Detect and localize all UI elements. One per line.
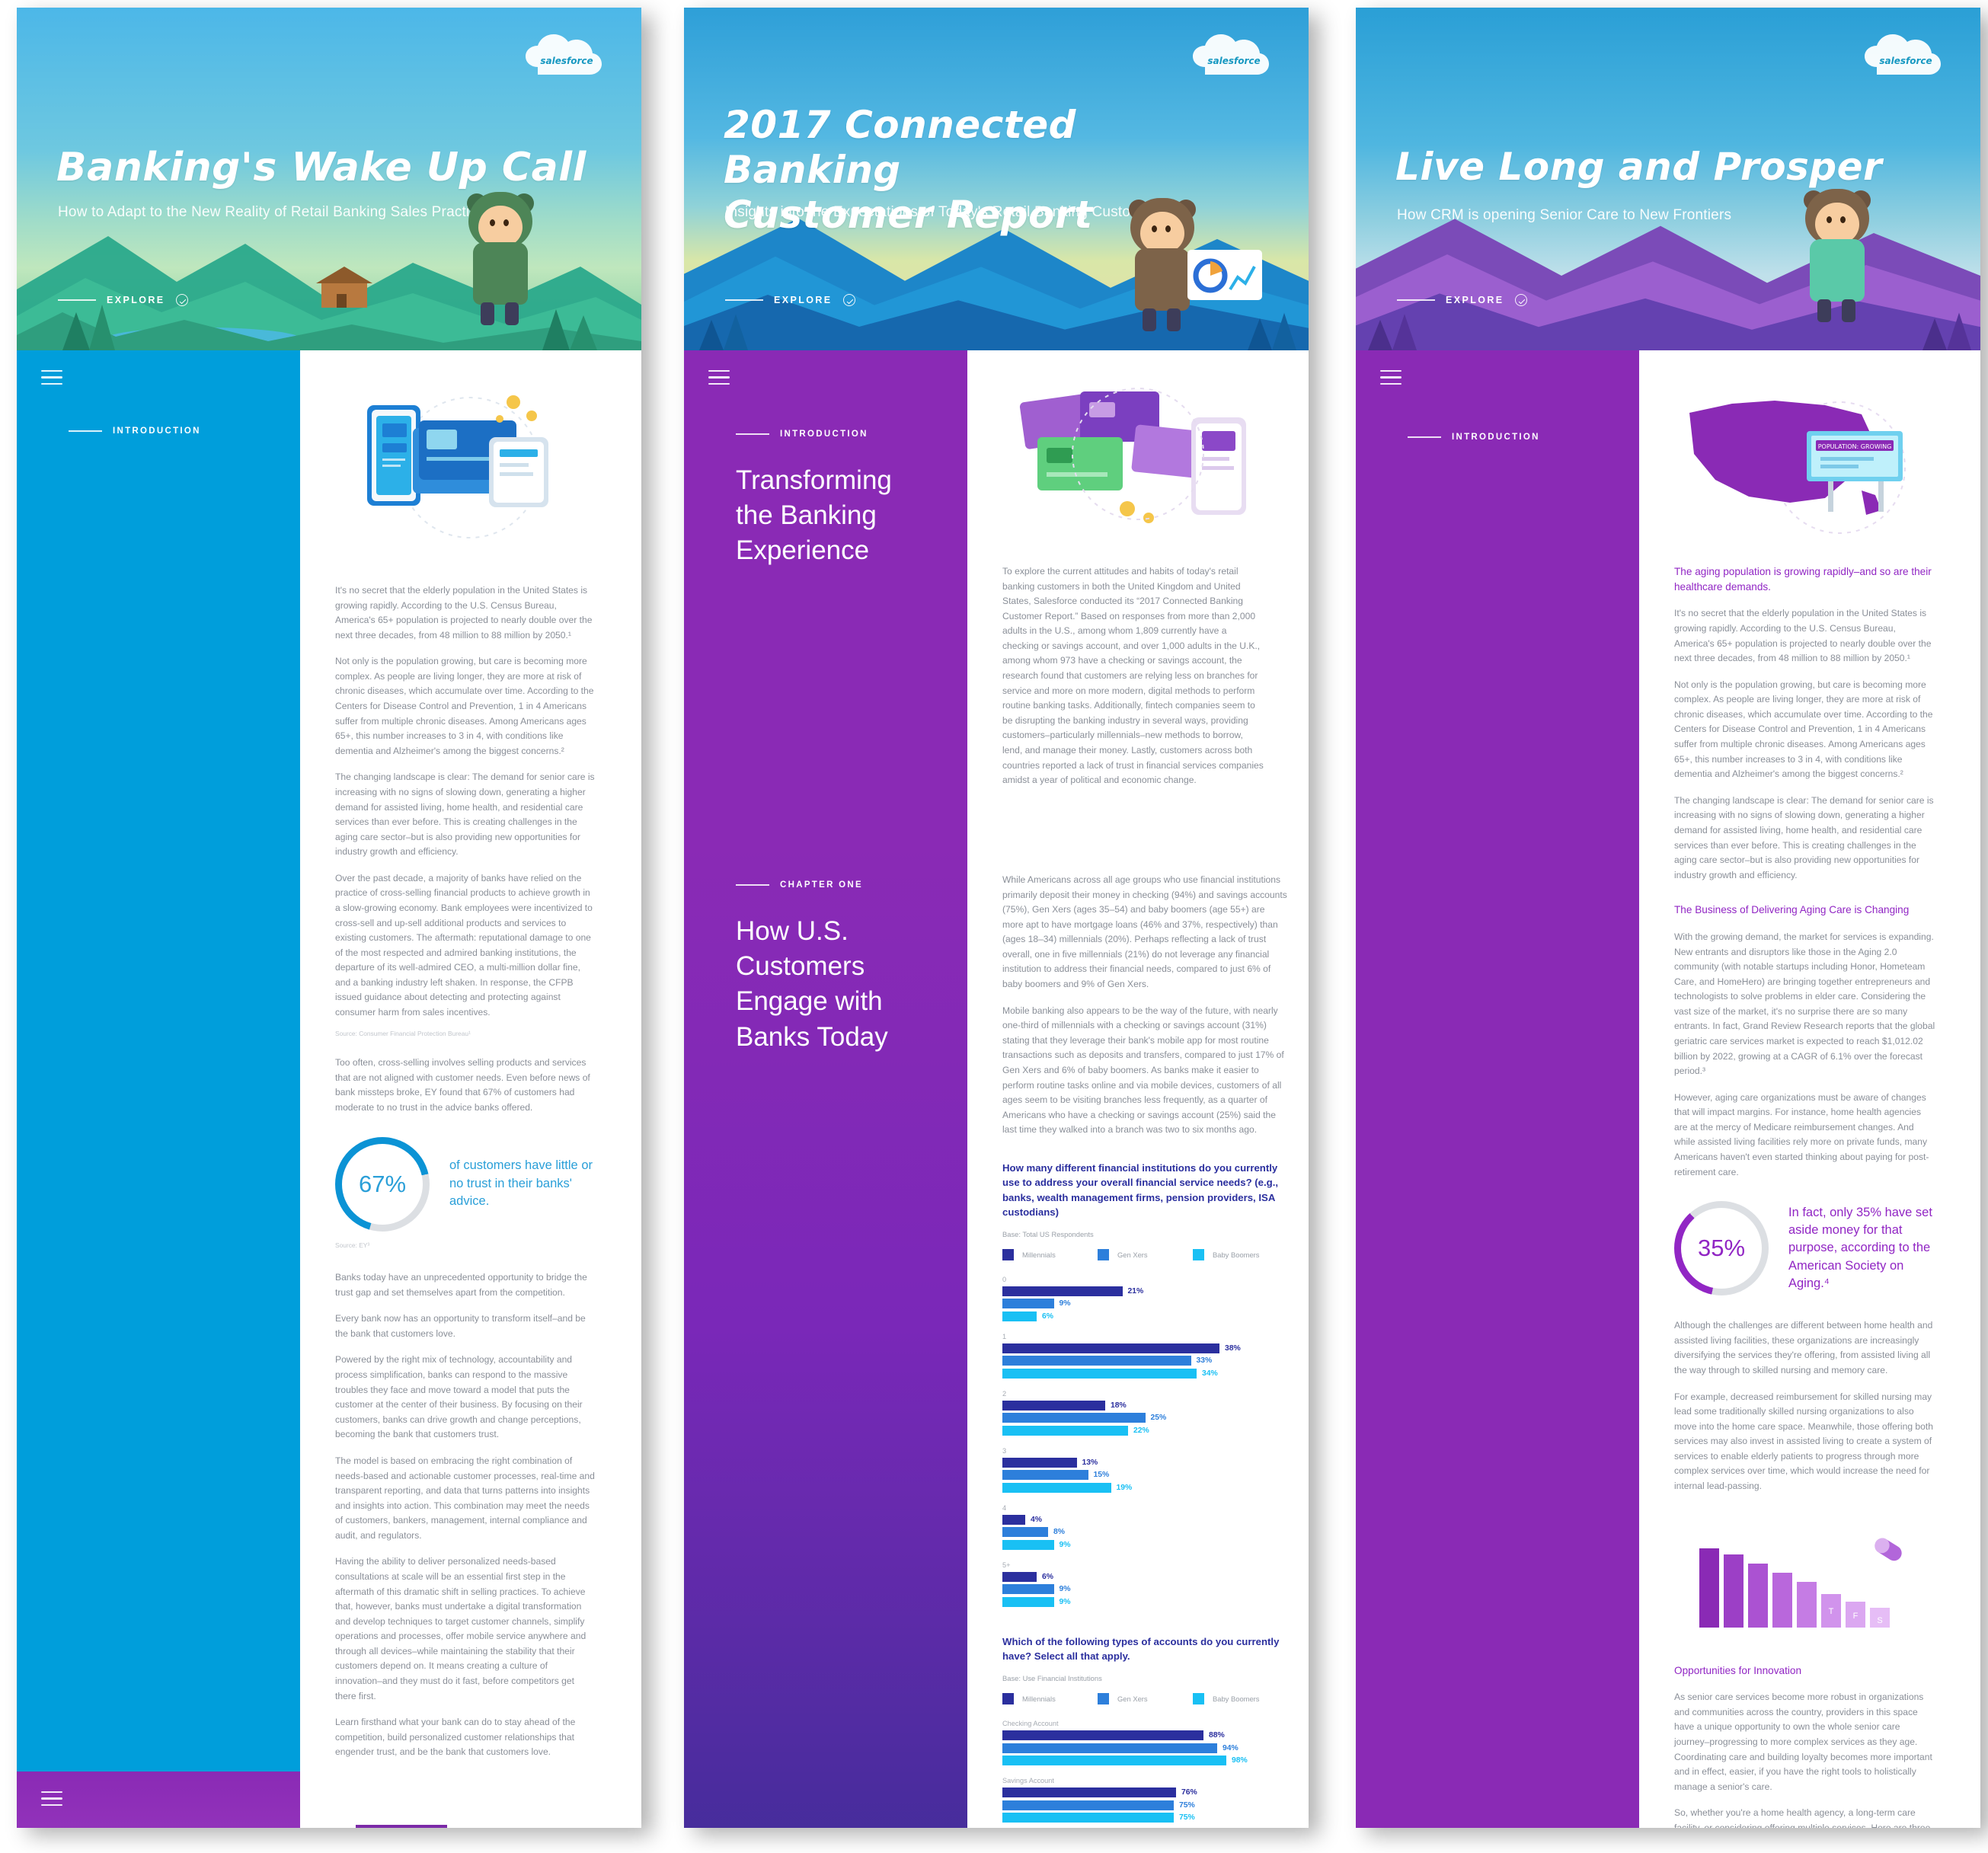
chart-legend: Millennials Gen Xers Baby Boomers — [1002, 1249, 1288, 1260]
paragraph: Although the challenges are different be… — [1674, 1318, 1936, 1378]
paragraph: However, aging care organizations must b… — [1674, 1091, 1936, 1180]
explore-button[interactable]: EXPLORE — [1397, 294, 1527, 306]
chart-bar-row: 6% — [1002, 1311, 1288, 1321]
chapter-one-block-panel1: CHAPTER ONE Tapping Digital Innovation t… — [17, 1772, 641, 1828]
three-panel-ebook-layout: salesforce Banking's Wake Up Call How to… — [0, 0, 1988, 1853]
chart-bar — [1002, 1756, 1226, 1765]
bar-label-f: F — [1853, 1612, 1859, 1621]
paragraph: To explore the current attitudes and hab… — [1002, 564, 1264, 788]
chart-group: Checking Account88%94%98% — [1002, 1720, 1288, 1765]
legend-label: Gen Xers — [1117, 1251, 1148, 1259]
legend-item: Gen Xers — [1098, 1249, 1193, 1260]
kicker-rule — [736, 884, 769, 886]
chart-bar-value: 22% — [1133, 1426, 1149, 1435]
kicker-rule — [69, 430, 102, 432]
chart-bar-row: 75% — [1002, 1800, 1288, 1810]
stat-value: 67% — [335, 1137, 430, 1232]
bank-building-mobile-illustration — [335, 1811, 597, 1828]
legend-swatch-millennials — [1002, 1249, 1014, 1260]
chart-category-label: Savings Account — [1002, 1777, 1288, 1784]
legend-item: Baby Boomers — [1193, 1249, 1288, 1260]
intro-section-panel3: INTRODUCTION POPULATION: GROWING — [1356, 350, 1980, 1828]
chart-bar — [1002, 1743, 1217, 1753]
intro-content-panel3: POPULATION: GROWING The aging population… — [1639, 350, 1980, 1828]
chart-bar-row: 22% — [1002, 1426, 1288, 1436]
chapter-one-section-panel2: CHAPTER ONE How U.S. Customers Engage wi… — [684, 838, 1309, 1828]
chapter-content-panel1: Tapping into the digital innovation that… — [300, 1772, 641, 1828]
ebook-panel-banking-wake-up-call: salesforce Banking's Wake Up Call How to… — [17, 8, 641, 1828]
astro-mascot-bear — [455, 192, 546, 325]
salesforce-cloud-logo: salesforce — [1860, 30, 1951, 82]
paragraph: So, whether you're a home health agency,… — [1674, 1806, 1936, 1828]
us-map-billboard-illustration: POPULATION: GROWING — [1674, 384, 1936, 548]
chart-bar-value: 4% — [1031, 1516, 1042, 1524]
chart-bar — [1002, 1572, 1037, 1582]
chart-bar — [1002, 1286, 1123, 1296]
chart-bar — [1002, 1470, 1088, 1480]
legend-swatch-genxers — [1098, 1249, 1109, 1260]
chart-bar — [1002, 1483, 1111, 1493]
left-rail-chapter: CHAPTER ONE Tapping Digital Innovation t… — [17, 1772, 300, 1828]
chart-group: 44%8%9% — [1002, 1504, 1288, 1550]
cards-phone-illustration — [1002, 384, 1264, 548]
stat-callout-trust: 67% of customers have little or no trust… — [335, 1137, 597, 1232]
pill-capsule-icon — [1872, 1535, 1905, 1563]
left-rail-deep-gradient: CHAPTER ONE How U.S. Customers Engage wi… — [684, 838, 967, 1828]
chart-bar-row: 19% — [1002, 1483, 1288, 1493]
chart-group: 313%15%19% — [1002, 1447, 1288, 1493]
paragraph: Learn firsthand what your bank can do to… — [335, 1715, 597, 1760]
paragraph: Over the past decade, a majority of bank… — [335, 871, 597, 1021]
legend-label: Millennials — [1022, 1695, 1056, 1703]
chart-bar-value: 13% — [1082, 1458, 1098, 1467]
chart-bar-row: 18% — [1002, 1401, 1288, 1411]
chart-bar — [1002, 1311, 1037, 1321]
explore-rule — [58, 299, 96, 301]
chart-bar-value: 38% — [1225, 1344, 1241, 1353]
explore-label: EXPLORE — [1446, 295, 1504, 305]
chart-bar — [1002, 1413, 1146, 1423]
chevron-down-icon — [176, 294, 188, 306]
chart-bar-row: 38% — [1002, 1343, 1288, 1353]
legend-swatch-genxers — [1098, 1693, 1109, 1704]
paragraph: Powered by the right mix of technology, … — [335, 1353, 597, 1442]
paragraph: Not only is the population growing, but … — [335, 654, 597, 759]
chevron-down-icon — [1515, 294, 1527, 306]
chart-bar-value: 9% — [1060, 1585, 1071, 1593]
chart-category-label: Checking Account — [1002, 1720, 1288, 1727]
chart-group: 5+6%9%9% — [1002, 1561, 1288, 1607]
intro-content-panel2: To explore the current attitudes and hab… — [967, 350, 1309, 838]
hero-banner-panel1: salesforce Banking's Wake Up Call How to… — [17, 8, 641, 350]
chart-bar — [1002, 1527, 1048, 1537]
chart-bar-value: 8% — [1053, 1528, 1065, 1536]
paragraph: It's no secret that the elderly populati… — [335, 583, 597, 643]
chart-bar-row: 94% — [1002, 1743, 1288, 1753]
bar-label-t: T — [1829, 1607, 1834, 1616]
menu-icon[interactable] — [41, 370, 62, 385]
chart-bar — [1002, 1540, 1054, 1550]
source-note: Source: Consumer Financial Protection Bu… — [335, 1029, 597, 1040]
chart-bar-value: 15% — [1094, 1471, 1110, 1479]
chart-bar — [1002, 1788, 1176, 1797]
paragraph: For example, decreased reimbursement for… — [1674, 1390, 1936, 1494]
legend-label: Baby Boomers — [1213, 1251, 1260, 1259]
chart-bar-row: 6% — [1002, 1572, 1288, 1582]
chart-group: Savings Account76%75%75% — [1002, 1777, 1288, 1823]
hero-subtitle: How CRM is opening Senior Care to New Fr… — [1397, 207, 1731, 224]
paragraph: The changing landscape is clear: The dem… — [1674, 794, 1936, 883]
chart-bar-value: 9% — [1060, 1598, 1071, 1606]
ebook-panel-connected-banking-report: salesforce 2017 Connected Banking Custom… — [684, 8, 1309, 1828]
chart-bar-row: 25% — [1002, 1413, 1288, 1423]
chart-bar-value: 9% — [1060, 1541, 1071, 1549]
chart-bar — [1002, 1800, 1174, 1810]
chart-group: 138%33%34% — [1002, 1333, 1288, 1379]
left-rail-blue: INTRODUCTION — [17, 350, 300, 1772]
chapter-kicker: CHAPTER ONE — [736, 880, 863, 890]
chart-bar — [1002, 1299, 1054, 1308]
chart-bar-row: 9% — [1002, 1584, 1288, 1594]
hero-title: Live Long and Prosper — [1395, 145, 1929, 189]
chart-group: 021%9%6% — [1002, 1276, 1288, 1321]
usa-map-graphic: POPULATION: GROWING — [1674, 384, 1936, 548]
svg-text:salesforce: salesforce — [1207, 56, 1260, 66]
kicker-label: CHAPTER ONE — [780, 880, 863, 890]
legend-swatch-babyboomers — [1193, 1693, 1204, 1704]
section-heading: The aging population is growing rapidly–… — [1674, 564, 1936, 594]
explore-label: EXPLORE — [774, 295, 833, 305]
billboard-label-text: POPULATION: GROWING — [1818, 443, 1892, 450]
chart-bar-row: 13% — [1002, 1458, 1288, 1468]
hero-subtitle: Insights into the Expectations of Today'… — [725, 204, 1163, 221]
menu-icon[interactable] — [41, 1791, 62, 1807]
chart-group: 218%25%22% — [1002, 1390, 1288, 1436]
astro-mascot-nurse — [1791, 189, 1883, 322]
chart-question: How many different financial institution… — [1002, 1161, 1288, 1220]
explore-label: EXPLORE — [107, 295, 165, 305]
chart-category-label: 3 — [1002, 1447, 1288, 1455]
svg-text:salesforce: salesforce — [540, 56, 593, 66]
chart-bar-value: 18% — [1111, 1401, 1127, 1410]
hero-title-line1: 2017 Connected Banking — [724, 103, 1257, 193]
chart-bar-value: 25% — [1151, 1414, 1167, 1422]
left-rail-purple: INTRODUCTION Transforming the Banking Ex… — [684, 350, 967, 838]
explore-rule — [725, 299, 763, 301]
legend-label: Gen Xers — [1117, 1695, 1148, 1703]
chart-bar-value: 33% — [1197, 1356, 1213, 1365]
chart-bar-value: 75% — [1179, 1813, 1195, 1822]
section-heading: Opportunities for Innovation — [1674, 1663, 1936, 1679]
salesforce-cloud-logo: salesforce — [521, 30, 612, 82]
paragraph: Mobile banking also appears to be the wa… — [1002, 1004, 1288, 1138]
chart-bar-value: 21% — [1128, 1287, 1144, 1296]
salesforce-cloud-logo: salesforce — [1188, 30, 1280, 82]
paragraph: Every bank now has an opportunity to tra… — [335, 1311, 597, 1341]
chart-bar-row: 34% — [1002, 1369, 1288, 1379]
explore-rule — [1397, 299, 1435, 301]
hero-banner-panel3: salesforce Live Long and Prosper How CRM… — [1356, 8, 1980, 350]
left-rail-purple: INTRODUCTION — [1356, 350, 1639, 1828]
menu-icon[interactable] — [1380, 370, 1402, 385]
chart-bar-value: 19% — [1117, 1484, 1133, 1492]
chart-base-label: Base: Total US Respondents — [1002, 1230, 1288, 1238]
chart-bar-value: 75% — [1179, 1801, 1195, 1810]
hero-title: Banking's Wake Up Call — [56, 145, 590, 190]
kicker-label: INTRODUCTION — [780, 430, 868, 439]
paragraph: The model is based on embracing the righ… — [335, 1454, 597, 1543]
legend-swatch-millennials — [1002, 1693, 1014, 1704]
chart-bar-row: 9% — [1002, 1540, 1288, 1550]
menu-icon[interactable] — [708, 370, 730, 385]
chart-bar-row: 8% — [1002, 1527, 1288, 1537]
intro-kicker: INTRODUCTION — [736, 430, 868, 439]
legend-item: Gen Xers — [1098, 1693, 1193, 1704]
paragraph: Not only is the population growing, but … — [1674, 678, 1936, 782]
stat-value: 35% — [1674, 1201, 1769, 1296]
chart-bar — [1002, 1426, 1128, 1436]
chart-bar-row: 33% — [1002, 1356, 1288, 1366]
ebook-panel-live-long-and-prosper: salesforce Live Long and Prosper How CRM… — [1356, 8, 1980, 1828]
paragraph: While Americans across all age groups wh… — [1002, 873, 1288, 992]
kicker-label: INTRODUCTION — [1452, 433, 1540, 442]
paragraph: It's no secret that the elderly populati… — [1674, 606, 1936, 666]
chart-bar — [1002, 1343, 1219, 1353]
explore-button[interactable]: EXPLORE — [58, 294, 188, 306]
donut-chart-67: 67% — [335, 1137, 430, 1232]
paragraph: Too often, cross-selling involves sellin… — [335, 1056, 597, 1115]
kicker-rule — [1408, 436, 1441, 438]
bar-label-s: S — [1877, 1616, 1882, 1625]
chart-category-label: 5+ — [1002, 1561, 1288, 1569]
stat-text: of customers have little or no trust in … — [449, 1157, 597, 1210]
stat-callout-savings: 35% In fact, only 35% have set aside mon… — [1674, 1201, 1936, 1296]
payment-cards-graphic — [1002, 384, 1264, 548]
stat-text: In fact, only 35% have set aside money f… — [1788, 1204, 1936, 1293]
legend-item: Millennials — [1002, 1249, 1098, 1260]
phone-card-graphic — [335, 384, 597, 567]
chart-bar-row: 88% — [1002, 1730, 1288, 1740]
intro-kicker: INTRODUCTION — [1408, 433, 1540, 442]
chart-question: Which of the following types of accounts… — [1002, 1634, 1288, 1664]
hero-subtitle: How to Adapt to the New Reality of Retai… — [58, 204, 493, 221]
chart-category-label: 4 — [1002, 1504, 1288, 1512]
chart-category-label: 1 — [1002, 1333, 1288, 1340]
source-note: Source: EY³ — [335, 1241, 597, 1251]
chart-bar-value: 34% — [1202, 1369, 1218, 1378]
chart-bar-row: 98% — [1002, 1756, 1288, 1765]
explore-button[interactable]: EXPLORE — [725, 294, 855, 306]
chart-base-label: Base: Use Financial Institutions — [1002, 1674, 1288, 1682]
chart-bar — [1002, 1356, 1191, 1366]
svg-text:salesforce: salesforce — [1879, 56, 1932, 66]
chart-bar-value: 98% — [1232, 1756, 1248, 1765]
bar-chart-pill-illustration: T F S — [1674, 1529, 1936, 1643]
mobile-wallet-illustration — [335, 384, 597, 567]
chart-bar — [1002, 1597, 1054, 1607]
kicker-label: INTRODUCTION — [113, 427, 201, 436]
chart-bar-row: 75% — [1002, 1813, 1288, 1823]
chart-category-label: 0 — [1002, 1276, 1288, 1283]
chart-bar-row: 4% — [1002, 1515, 1288, 1525]
chapter-title: How U.S. Customers Engage with Banks Tod… — [736, 914, 926, 1055]
chart-legend: Millennials Gen Xers Baby Boomers — [1002, 1693, 1288, 1704]
paragraph: With the growing demand, the market for … — [1674, 930, 1936, 1079]
intro-content-panel1: It's no secret that the elderly populati… — [300, 350, 641, 1772]
chart-account-types: Which of the following types of accounts… — [1002, 1634, 1288, 1828]
kicker-rule — [736, 433, 769, 435]
hero-banner-panel2: salesforce 2017 Connected Banking Custom… — [684, 8, 1309, 350]
chart-category-label: 2 — [1002, 1390, 1288, 1398]
chapter-content-panel2: While Americans across all age groups wh… — [967, 838, 1309, 1828]
chevron-down-icon — [843, 294, 855, 306]
legend-label: Baby Boomers — [1213, 1695, 1260, 1703]
intro-section-panel2: INTRODUCTION Transforming the Banking Ex… — [684, 350, 1309, 838]
section-heading: The Business of Delivering Aging Care is… — [1674, 903, 1936, 918]
chart-bar-row: 21% — [1002, 1286, 1288, 1296]
paragraph: Having the ability to deliver personaliz… — [335, 1554, 597, 1704]
astro-laptop-chart-icon — [1183, 245, 1267, 314]
chart-bar-row: 9% — [1002, 1597, 1288, 1607]
chart-bar-value: 6% — [1042, 1312, 1053, 1321]
chart-bar-row: 15% — [1002, 1470, 1288, 1480]
chart-bar-value: 76% — [1181, 1788, 1197, 1797]
legend-item: Millennials — [1002, 1693, 1098, 1704]
legend-item: Baby Boomers — [1193, 1693, 1288, 1704]
chart-bar — [1002, 1730, 1203, 1740]
chart-bar-row: 76% — [1002, 1788, 1288, 1797]
chart-bar — [1002, 1369, 1197, 1379]
intro-title: Transforming the Banking Experience — [736, 463, 926, 569]
chart-bar — [1002, 1458, 1077, 1468]
paragraph: The changing landscape is clear: The dem… — [335, 770, 597, 859]
chart-bar — [1002, 1584, 1054, 1594]
chart-bar-value: 94% — [1223, 1744, 1239, 1752]
chart-bar-row: 9% — [1002, 1299, 1288, 1308]
chart-bar — [1002, 1401, 1105, 1411]
paragraph: As senior care services become more robu… — [1674, 1690, 1936, 1794]
chart-bar — [1002, 1813, 1174, 1823]
legend-swatch-babyboomers — [1193, 1249, 1204, 1260]
chart-plot-area: Checking Account88%94%98%Savings Account… — [1002, 1720, 1288, 1828]
intro-kicker: INTRODUCTION — [69, 427, 201, 436]
intro-section-panel1: INTRODUCTION — [17, 350, 641, 1772]
chart-bar-value: 88% — [1209, 1731, 1225, 1740]
chart-plot-area: 021%9%6%138%33%34%218%25%22%313%15%19%44… — [1002, 1276, 1288, 1607]
chart-financial-institutions-count: How many different financial institution… — [1002, 1161, 1288, 1607]
chart-bar — [1002, 1515, 1025, 1525]
chart-bar-value: 6% — [1042, 1573, 1053, 1581]
paragraph: Banks today have an unprecedented opport… — [335, 1270, 597, 1300]
donut-chart-35: 35% — [1674, 1201, 1769, 1296]
legend-label: Millennials — [1022, 1251, 1056, 1259]
chart-bar-value: 9% — [1060, 1299, 1071, 1308]
